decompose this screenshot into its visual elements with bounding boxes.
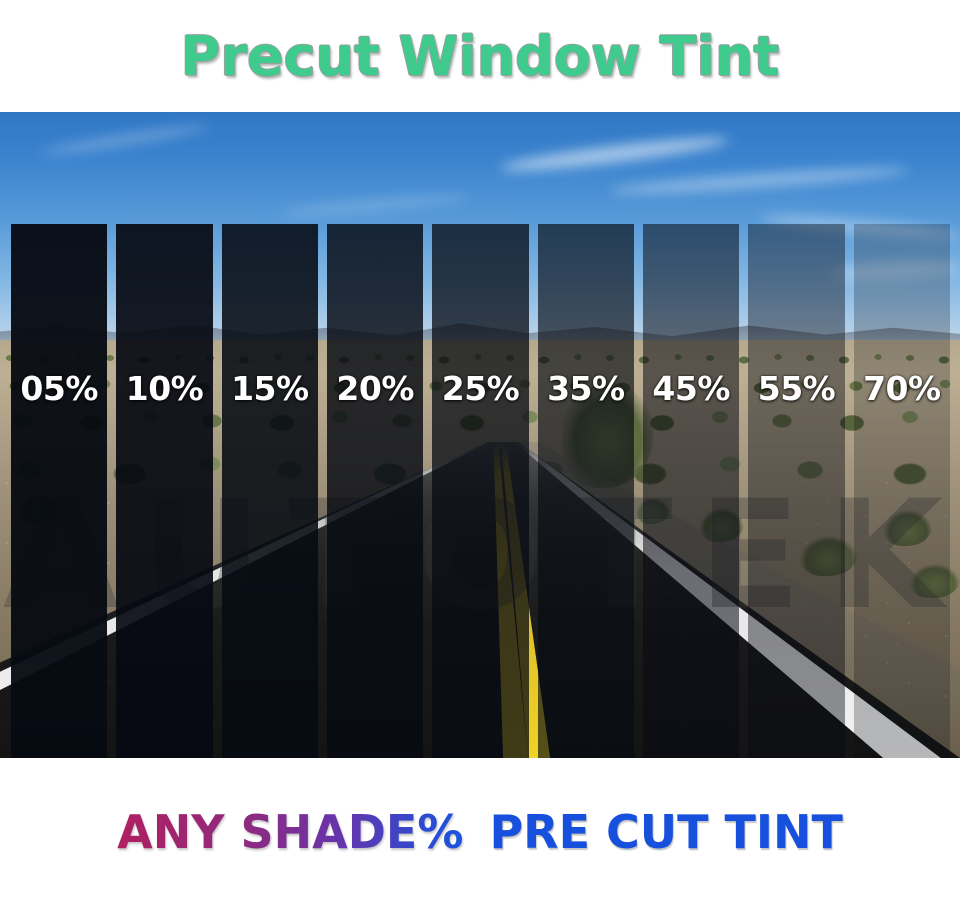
tint-panel-45[interactable]: 45%: [643, 224, 739, 758]
footer-tagline: ANY SHADE% PRE CUT TINT: [117, 805, 843, 859]
tint-label-20: 20%: [336, 369, 414, 408]
footer-bar: ANY SHADE% PRE CUT TINT: [0, 758, 960, 905]
tint-panel-5[interactable]: 05%: [11, 224, 107, 758]
tint-panel-10[interactable]: 10%: [116, 224, 212, 758]
footer-pre-cut-tint-text: PRE CUT TINT: [489, 805, 842, 859]
title-bar: Precut Window Tint: [0, 0, 960, 112]
tint-label-70: 70%: [863, 369, 941, 408]
tint-label-25: 25%: [442, 369, 520, 408]
tint-panel-20[interactable]: 20%: [327, 224, 423, 758]
tint-label-45: 45%: [652, 369, 730, 408]
tint-panel-70[interactable]: 70%: [854, 224, 950, 758]
tint-panel-row: 05%10%15%20%25%35%45%55%70%: [0, 224, 960, 758]
tint-film-35: [538, 224, 634, 758]
tint-film-45: [643, 224, 739, 758]
tint-film-10: [116, 224, 212, 758]
tint-film-25: [432, 224, 528, 758]
tint-panel-35[interactable]: 35%: [538, 224, 634, 758]
tint-film-5: [11, 224, 107, 758]
tint-label-35: 35%: [547, 369, 625, 408]
tint-label-55: 55%: [758, 369, 836, 408]
tint-panel-25[interactable]: 25%: [432, 224, 528, 758]
tint-label-15: 15%: [231, 369, 309, 408]
tint-film-55: [748, 224, 844, 758]
tint-comparison-photo: AUTOTEK 05%10%15%20%25%35%45%55%70%: [0, 112, 960, 758]
tint-label-5: 05%: [20, 369, 98, 408]
tint-film-70: [854, 224, 950, 758]
page-title: Precut Window Tint: [181, 25, 779, 88]
footer-any-shade-text: ANY SHADE%: [117, 805, 463, 859]
tint-label-10: 10%: [126, 369, 204, 408]
tint-film-20: [327, 224, 423, 758]
tint-film-15: [222, 224, 318, 758]
tint-panel-55[interactable]: 55%: [748, 224, 844, 758]
tint-panel-15[interactable]: 15%: [222, 224, 318, 758]
